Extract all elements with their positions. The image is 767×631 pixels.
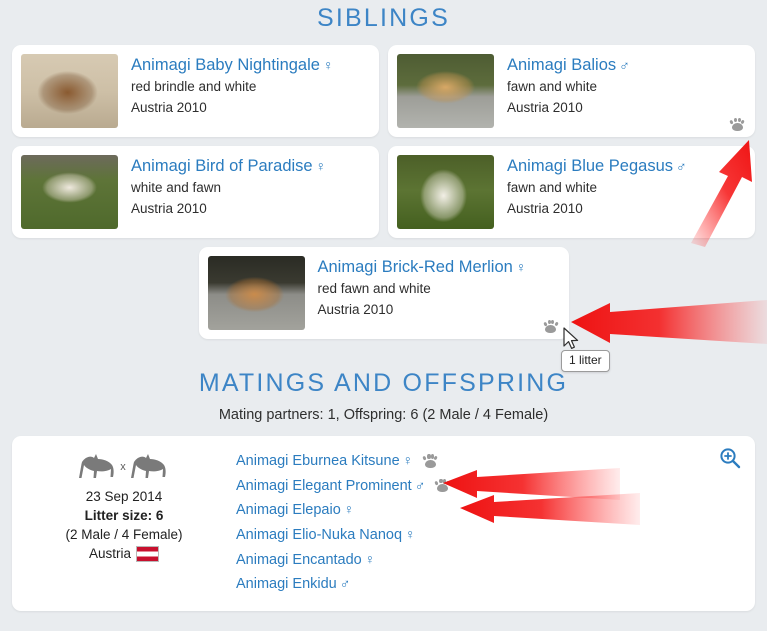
gender-symbol-female: ♀ bbox=[316, 158, 327, 174]
siblings-heading: SIBLINGS bbox=[0, 0, 767, 31]
mating-pair-icon: x bbox=[26, 450, 222, 484]
sibling-card-brick-red-merlion[interactable]: Animagi Brick-Red Merlion♀ red fawn and … bbox=[199, 247, 569, 339]
offspring-name-link[interactable]: Animagi Eburnea Kitsune bbox=[236, 453, 400, 469]
gender-symbol-male: ♂ bbox=[619, 57, 630, 73]
siblings-row-3: Animagi Brick-Red Merlion♀ red fawn and … bbox=[12, 247, 755, 339]
dog-name-link[interactable]: Animagi Baby Nightingale bbox=[131, 56, 320, 74]
matings-summary: Mating partners: 1, Offspring: 6 (2 Male… bbox=[0, 396, 767, 423]
gender-symbol-female: ♀ bbox=[365, 551, 376, 567]
sibling-card-baby-nightingale[interactable]: Animagi Baby Nightingale♀ red brindle an… bbox=[12, 45, 379, 137]
gender-symbol-male: ♂ bbox=[415, 477, 426, 493]
litter-info: x 23 Sep 2014 Litter size: 6 (2 Male / 4… bbox=[26, 448, 222, 597]
offspring-item: Animagi Elepaio♀ bbox=[236, 498, 741, 523]
matings-heading: MATINGS AND OFFSPRING bbox=[0, 371, 767, 396]
paw-icon[interactable] bbox=[543, 319, 559, 334]
litter-country-label: Austria bbox=[89, 544, 131, 563]
sibling-card-bird-of-paradise[interactable]: Animagi Bird of Paradise♀ white and fawn… bbox=[12, 146, 379, 238]
litter-tooltip: 1 litter bbox=[561, 350, 610, 372]
svg-text:x: x bbox=[120, 461, 126, 473]
offspring-item: Animagi Encantado♀ bbox=[236, 548, 741, 573]
dog-photo[interactable] bbox=[208, 256, 305, 330]
austria-flag-icon bbox=[136, 546, 159, 562]
offspring-item: Animagi Enkidu♂ bbox=[236, 572, 741, 597]
offspring-name-link[interactable]: Animagi Elepaio bbox=[236, 502, 341, 518]
paw-icon[interactable] bbox=[422, 454, 438, 469]
litter-size: Litter size: 6 bbox=[26, 506, 222, 525]
dog-origin: Austria 2010 bbox=[131, 98, 333, 118]
siblings-row-1: Animagi Baby Nightingale♀ red brindle an… bbox=[12, 45, 755, 137]
sibling-card-blue-pegasus[interactable]: Animagi Blue Pegasus♂ fawn and white Aus… bbox=[388, 146, 755, 238]
litter-country-row: Austria bbox=[26, 544, 222, 563]
dog-card-body: Animagi Balios♂ fawn and white Austria 2… bbox=[494, 54, 630, 118]
dog-origin: Austria 2010 bbox=[131, 199, 326, 219]
dog-name-link[interactable]: Animagi Brick-Red Merlion bbox=[318, 258, 513, 276]
gender-symbol-female: ♀ bbox=[323, 57, 334, 73]
dog-name-link[interactable]: Animagi Balios bbox=[507, 56, 616, 74]
gender-symbol-female: ♀ bbox=[403, 452, 414, 468]
gender-symbol-female: ♀ bbox=[344, 501, 355, 517]
siblings-grid: Animagi Baby Nightingale♀ red brindle an… bbox=[0, 45, 767, 339]
paw-icon[interactable] bbox=[729, 117, 745, 132]
offspring-item: Animagi Eburnea Kitsune♀ bbox=[236, 449, 741, 474]
dog-color: fawn and white bbox=[507, 178, 687, 198]
dog-origin: Austria 2010 bbox=[507, 199, 687, 219]
dog-name-link[interactable]: Animagi Blue Pegasus bbox=[507, 157, 673, 175]
litter-card: x 23 Sep 2014 Litter size: 6 (2 Male / 4… bbox=[12, 436, 755, 611]
gender-symbol-male: ♂ bbox=[676, 158, 687, 174]
dog-color: red fawn and white bbox=[318, 279, 527, 299]
offspring-list: Animagi Eburnea Kitsune♀ Animagi Elegant… bbox=[222, 448, 741, 597]
dog-photo[interactable] bbox=[21, 155, 118, 229]
gender-symbol-female: ♀ bbox=[405, 526, 416, 542]
mouse-cursor bbox=[563, 327, 580, 351]
dog-color: fawn and white bbox=[507, 77, 630, 97]
dog-photo[interactable] bbox=[397, 54, 494, 128]
dog-origin: Austria 2010 bbox=[318, 300, 527, 320]
dog-color: red brindle and white bbox=[131, 77, 333, 97]
paw-icon[interactable] bbox=[434, 478, 450, 493]
dog-origin: Austria 2010 bbox=[507, 98, 630, 118]
gender-symbol-female: ♀ bbox=[516, 259, 527, 275]
zoom-in-icon[interactable] bbox=[719, 447, 741, 469]
dog-card-body: Animagi Baby Nightingale♀ red brindle an… bbox=[118, 54, 333, 118]
offspring-name-link[interactable]: Animagi Encantado bbox=[236, 552, 362, 568]
siblings-row-2: Animagi Bird of Paradise♀ white and fawn… bbox=[12, 146, 755, 238]
offspring-item: Animagi Elio-Nuka Nanoq♀ bbox=[236, 523, 741, 548]
dog-photo[interactable] bbox=[397, 155, 494, 229]
offspring-name-link[interactable]: Animagi Enkidu bbox=[236, 576, 337, 592]
litter-gender-split: (2 Male / 4 Female) bbox=[26, 525, 222, 544]
litter-date: 23 Sep 2014 bbox=[26, 487, 222, 506]
dog-card-body: Animagi Brick-Red Merlion♀ red fawn and … bbox=[305, 256, 527, 320]
sibling-card-balios[interactable]: Animagi Balios♂ fawn and white Austria 2… bbox=[388, 45, 755, 137]
dog-name-link[interactable]: Animagi Bird of Paradise bbox=[131, 157, 313, 175]
gender-symbol-male: ♂ bbox=[340, 575, 351, 591]
dog-photo[interactable] bbox=[21, 54, 118, 128]
dog-color: white and fawn bbox=[131, 178, 326, 198]
offspring-name-link[interactable]: Animagi Elio-Nuka Nanoq bbox=[236, 527, 402, 543]
matings-section: x 23 Sep 2014 Litter size: 6 (2 Male / 4… bbox=[0, 436, 767, 611]
offspring-name-link[interactable]: Animagi Elegant Prominent bbox=[236, 478, 412, 494]
dog-card-body: Animagi Bird of Paradise♀ white and fawn… bbox=[118, 155, 326, 219]
offspring-item: Animagi Elegant Prominent♂ bbox=[236, 474, 741, 499]
dog-card-body: Animagi Blue Pegasus♂ fawn and white Aus… bbox=[494, 155, 687, 219]
